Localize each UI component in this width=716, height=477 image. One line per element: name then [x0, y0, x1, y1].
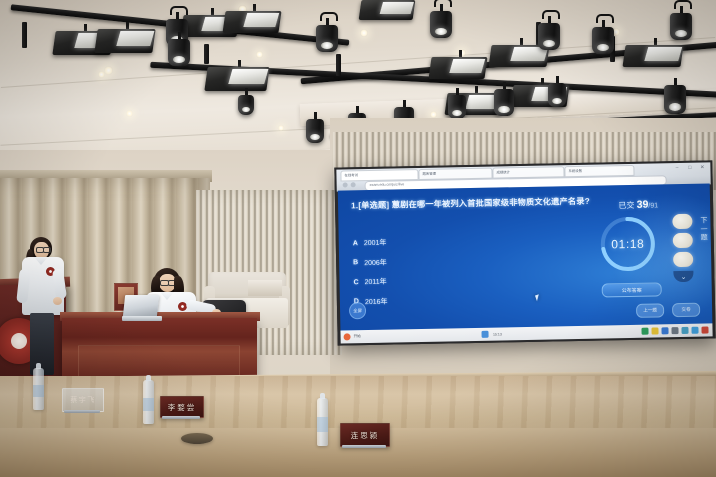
hand-right	[53, 297, 62, 305]
question-text: 1.[单选题] 蕙剧在哪一年被列入首批国家级非物质文化遗产名录?	[351, 195, 603, 212]
stage-light-fixture	[494, 82, 514, 116]
submit-exam-button[interactable]: 交卷	[672, 303, 700, 318]
taskbar-start-area[interactable]: 开始	[344, 333, 361, 340]
stage-light-fixture	[316, 18, 338, 52]
screenshot-root: 在线考试 题库管理 成绩统计 系统设置 exam.edu.cn/quiz/liv…	[0, 0, 716, 477]
start-button-icon[interactable]	[344, 333, 351, 340]
led-display-screen: 在线考试 题库管理 成绩统计 系统设置 exam.edu.cn/quiz/liv…	[334, 160, 715, 345]
downlight	[126, 110, 133, 117]
stage-light-fixture	[664, 78, 686, 114]
stage-light-fixture	[548, 76, 566, 106]
nameplate-text: 李婺尝	[168, 402, 197, 413]
quiz-footer-buttons: 上一题 交卷	[636, 303, 700, 318]
taskbar-clock: 15:13	[493, 332, 502, 336]
nameplate-3: 连思颍	[340, 423, 390, 447]
downlight	[98, 71, 105, 78]
stage-light-fixture	[168, 32, 190, 66]
fullscreen-button[interactable]: 全屏	[349, 302, 366, 319]
answer-option-c[interactable]: C 2011年	[353, 277, 387, 288]
nameplate-text: 连思颍	[351, 430, 380, 441]
truss-drop	[336, 54, 341, 76]
timer-value: 01:18	[596, 212, 659, 275]
monitor-icon[interactable]	[671, 327, 678, 334]
submitted-count: 39	[637, 199, 649, 211]
nameplate-stand	[162, 416, 200, 419]
truss-drop	[22, 22, 27, 48]
stage-light-fixture	[224, 4, 284, 42]
submitted-label: 已交	[618, 201, 634, 210]
option-letter: B	[353, 259, 364, 266]
browser-tab-label: 题库管理	[422, 171, 436, 176]
stage-light-fixture	[96, 22, 158, 62]
participant-avatar-stack: ⌄	[672, 214, 695, 282]
option-text: 2016年	[365, 296, 388, 306]
nameplate-stand	[342, 445, 386, 448]
ceramic-bowl	[181, 433, 213, 444]
glasses	[43, 247, 51, 253]
avatar[interactable]	[673, 252, 693, 267]
stage-light-fixture	[360, 0, 418, 34]
mail-icon[interactable]	[661, 327, 668, 334]
answer-option-a[interactable]: A 2001年	[353, 238, 387, 249]
stage-light-fixture	[670, 6, 692, 40]
option-letter: C	[353, 279, 364, 286]
nameplate-2: 李婺尝	[160, 396, 204, 418]
nameplate-text: 蔡宇飞	[70, 395, 96, 405]
bottle-label	[33, 385, 44, 398]
nameplate-1: 蔡宇飞	[62, 388, 104, 412]
water-bottle	[33, 368, 44, 410]
reveal-answer-button[interactable]: 公布答案	[602, 282, 662, 297]
laptop-keyboard	[122, 316, 162, 321]
taskbar-tray	[641, 326, 708, 334]
submitted-total: /91	[648, 202, 658, 209]
countdown-timer: 01:18	[596, 212, 659, 275]
avatar[interactable]	[673, 233, 693, 248]
stage-light-fixture	[430, 50, 490, 88]
downlight	[278, 125, 284, 131]
chevron-down-icon[interactable]: ⌄	[673, 271, 693, 282]
downlight	[430, 111, 437, 118]
browser-tab-label: 在线考试	[344, 172, 358, 177]
prev-question-button[interactable]: 上一题	[636, 303, 664, 318]
water-bottle	[317, 398, 328, 446]
water-bottle	[143, 380, 154, 424]
bottle-label	[317, 417, 328, 431]
legs	[30, 313, 54, 375]
window-close-icon[interactable]: ✕	[700, 165, 704, 171]
laptop	[122, 295, 162, 323]
browser-tab-label: 成绩统计	[496, 169, 510, 174]
downlight	[256, 51, 263, 58]
media-icon[interactable]	[701, 326, 708, 333]
stage-light-fixture	[624, 38, 686, 76]
file-explorer-icon[interactable]	[482, 331, 489, 338]
answer-option-b[interactable]: B 2006年	[353, 257, 387, 268]
browser-icon[interactable]	[641, 328, 648, 335]
settings-icon[interactable]	[681, 327, 688, 334]
option-text: 2006年	[364, 257, 387, 267]
browser-tab-label: 系统设置	[568, 168, 582, 173]
stage-light-fixture	[538, 16, 560, 50]
taskbar-app-icons: 15:13	[482, 330, 502, 337]
mouse-cursor-icon	[535, 294, 541, 301]
stage-light-fixture	[306, 112, 324, 142]
bottle-label	[143, 398, 154, 411]
option-text: 2011年	[364, 277, 386, 287]
window-minimize-icon[interactable]: –	[676, 165, 679, 171]
side-table	[248, 280, 282, 296]
submitted-counter: 已交 39/91	[618, 198, 658, 211]
next-question-label[interactable]: 下一题	[699, 217, 708, 243]
avatar[interactable]	[672, 214, 692, 229]
quiz-page: 1.[单选题] 蕙剧在哪一年被列入首批国家级非物质文化遗产名录? A 2001年…	[338, 183, 713, 331]
nameplate-stand	[64, 410, 100, 413]
address-bar-text: exam.edu.cn/quiz/live	[370, 182, 405, 187]
folder-icon[interactable]	[651, 327, 658, 334]
option-letter: A	[353, 240, 364, 247]
stage-light-fixture	[448, 88, 466, 118]
stage-light-fixture	[238, 88, 254, 114]
stage-light-fixture	[592, 20, 614, 54]
laptop-screen	[123, 295, 159, 317]
window-maximize-icon[interactable]: □	[688, 165, 691, 171]
option-text: 2001年	[364, 238, 387, 248]
chat-icon[interactable]	[691, 327, 698, 334]
start-label: 开始	[354, 334, 361, 339]
downlight	[104, 66, 113, 75]
stage-light-fixture	[430, 4, 452, 38]
